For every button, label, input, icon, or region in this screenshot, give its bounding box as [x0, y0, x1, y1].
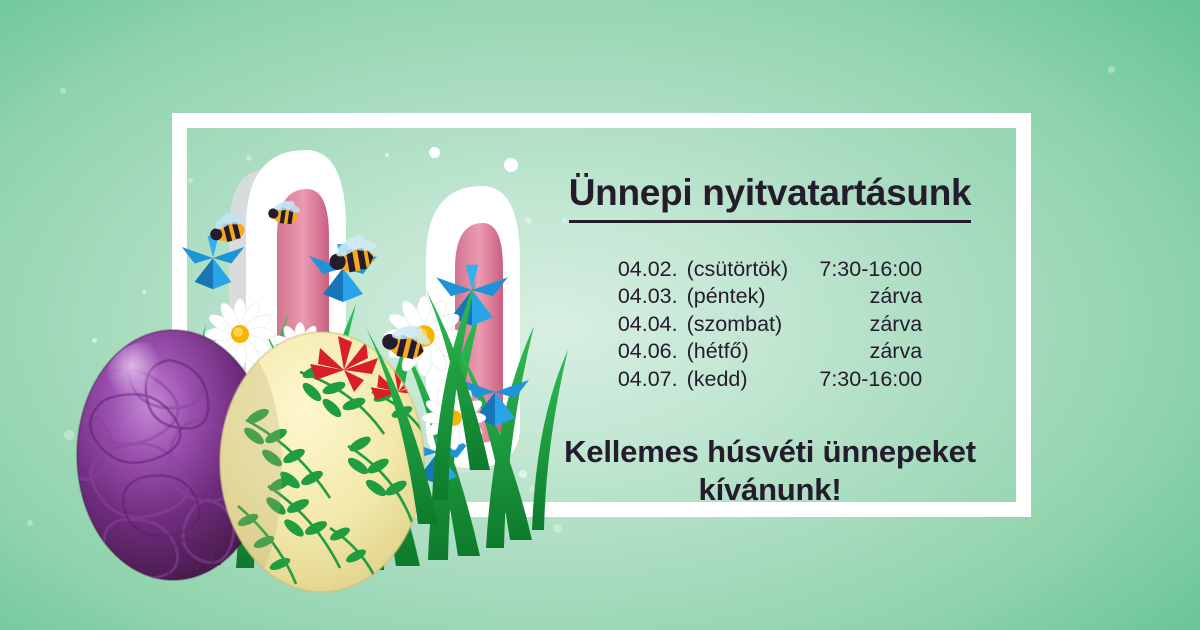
- bokeh-dot: [92, 338, 97, 343]
- greeting-line-1: Kellemes húsvéti ünnepeket: [520, 433, 1020, 471]
- schedule-day: (szombat): [687, 311, 803, 339]
- opening-hours-body: 04.02. (csütörtök) 7:30-16:00 04.03. (pé…: [618, 256, 922, 394]
- schedule-hours: zárva: [802, 338, 922, 366]
- schedule-day: (péntek): [687, 283, 803, 311]
- schedule-date: 04.03.: [618, 283, 687, 311]
- bokeh-dot: [1108, 66, 1115, 73]
- schedule-date: 04.06.: [618, 338, 687, 366]
- table-row: 04.04. (szombat) zárva: [618, 311, 922, 339]
- easter-opening-hours-poster: Ünnepi nyitvatartásunk 04.02. (csütörtök…: [0, 0, 1200, 630]
- bokeh-dot: [60, 88, 66, 94]
- page-title: Ünnepi nyitvatartásunk: [569, 172, 972, 223]
- bokeh-dot: [64, 430, 74, 440]
- table-row: 04.02. (csütörtök) 7:30-16:00: [618, 256, 922, 284]
- opening-hours-table: 04.02. (csütörtök) 7:30-16:00 04.03. (pé…: [618, 256, 922, 394]
- table-row: 04.03. (péntek) zárva: [618, 283, 922, 311]
- schedule-day: (csütörtök): [687, 256, 803, 284]
- schedule-date: 04.04.: [618, 311, 687, 339]
- greeting-line-2: kívánunk!: [520, 471, 1020, 509]
- schedule-hours: 7:30-16:00: [802, 366, 922, 394]
- schedule-hours: zárva: [802, 283, 922, 311]
- greeting-message: Kellemes húsvéti ünnepeket kívánunk!: [520, 433, 1020, 509]
- bokeh-dot: [142, 290, 146, 294]
- bokeh-dot: [27, 520, 33, 526]
- schedule-day: (kedd): [687, 366, 803, 394]
- schedule-hours: 7:30-16:00: [802, 256, 922, 284]
- bokeh-dot: [553, 524, 562, 533]
- table-row: 04.07. (kedd) 7:30-16:00: [618, 366, 922, 394]
- schedule-day: (hétfő): [687, 338, 803, 366]
- text-content-block: Ünnepi nyitvatartásunk 04.02. (csütörtök…: [520, 172, 1020, 509]
- schedule-hours: zárva: [802, 311, 922, 339]
- table-row: 04.06. (hétfő) zárva: [618, 338, 922, 366]
- schedule-date: 04.07.: [618, 366, 687, 394]
- schedule-date: 04.02.: [618, 256, 687, 284]
